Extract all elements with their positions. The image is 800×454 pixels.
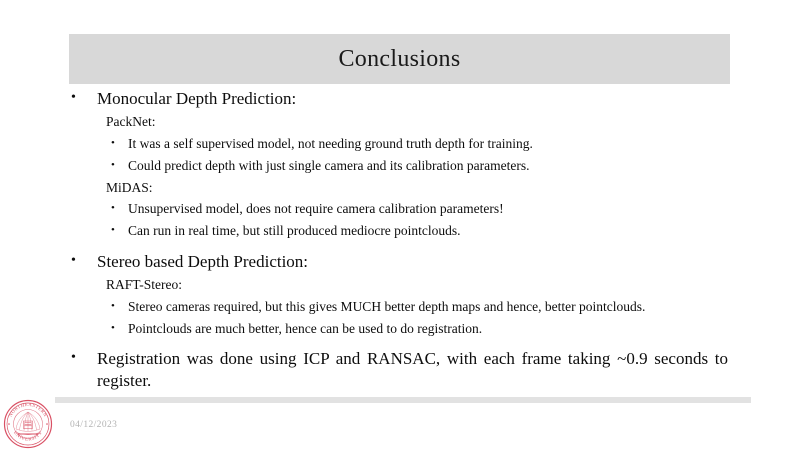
footer-date: 04/12/2023 — [70, 420, 117, 430]
svg-text:UNIVERSITY: UNIVERSITY — [12, 430, 44, 442]
closing-statement: • Registration was done using ICP and RA… — [0, 348, 800, 391]
bullet-icon: • — [71, 88, 76, 108]
slide-canvas: Conclusions • Monocular Depth Prediction… — [0, 0, 800, 450]
bullet-icon: • — [111, 135, 115, 152]
section-heading-label: Monocular Depth Prediction: — [97, 89, 296, 108]
list-item: • It was a self supervised model, not ne… — [0, 135, 800, 153]
list-item-text: Unsupervised model, does not require cam… — [128, 201, 504, 216]
section-heading-label: Stereo based Depth Prediction: — [97, 252, 308, 271]
slide-body: • Monocular Depth Prediction: PackNet: •… — [0, 88, 800, 388]
bullet-icon: • — [71, 348, 76, 368]
bullet-icon: • — [71, 251, 76, 271]
list-item: • Unsupervised model, does not require c… — [0, 200, 800, 218]
list-item: • Stereo cameras required, but this give… — [0, 298, 800, 316]
bullet-icon: • — [111, 200, 115, 217]
slide-title-banner: Conclusions — [69, 34, 730, 84]
list-item-text: Could predict depth with just single cam… — [128, 158, 530, 173]
section-heading-stereo: • Stereo based Depth Prediction: — [0, 251, 800, 272]
list-item-text: It was a self supervised model, not need… — [128, 136, 533, 151]
bullet-icon: • — [111, 222, 115, 239]
closing-statement-text: Registration was done using ICP and RANS… — [97, 349, 728, 389]
list-item-text: Stereo cameras required, but this gives … — [128, 299, 645, 314]
bullet-icon: • — [111, 320, 115, 337]
subgroup-label-packnet: PackNet: — [0, 113, 800, 131]
list-item-text: Pointclouds are much better, hence can b… — [128, 321, 482, 336]
bullet-icon: • — [111, 157, 115, 174]
list-item: • Can run in real time, but still produc… — [0, 222, 800, 240]
subgroup-label-midas: MiDAS: — [0, 179, 800, 197]
subgroup-label-raft-stereo: RAFT-Stereo: — [0, 276, 800, 294]
list-item: • Could predict depth with just single c… — [0, 157, 800, 175]
list-item-text: Can run in real time, but still produced… — [128, 223, 461, 238]
footer-divider — [55, 397, 751, 403]
bullet-icon: • — [111, 298, 115, 315]
northeastern-university-seal-icon: NORTHEASTERN UNIVERSITY — [3, 399, 53, 449]
section-heading-monocular: • Monocular Depth Prediction: — [0, 88, 800, 109]
list-item: • Pointclouds are much better, hence can… — [0, 320, 800, 338]
page-title: Conclusions — [339, 47, 461, 71]
